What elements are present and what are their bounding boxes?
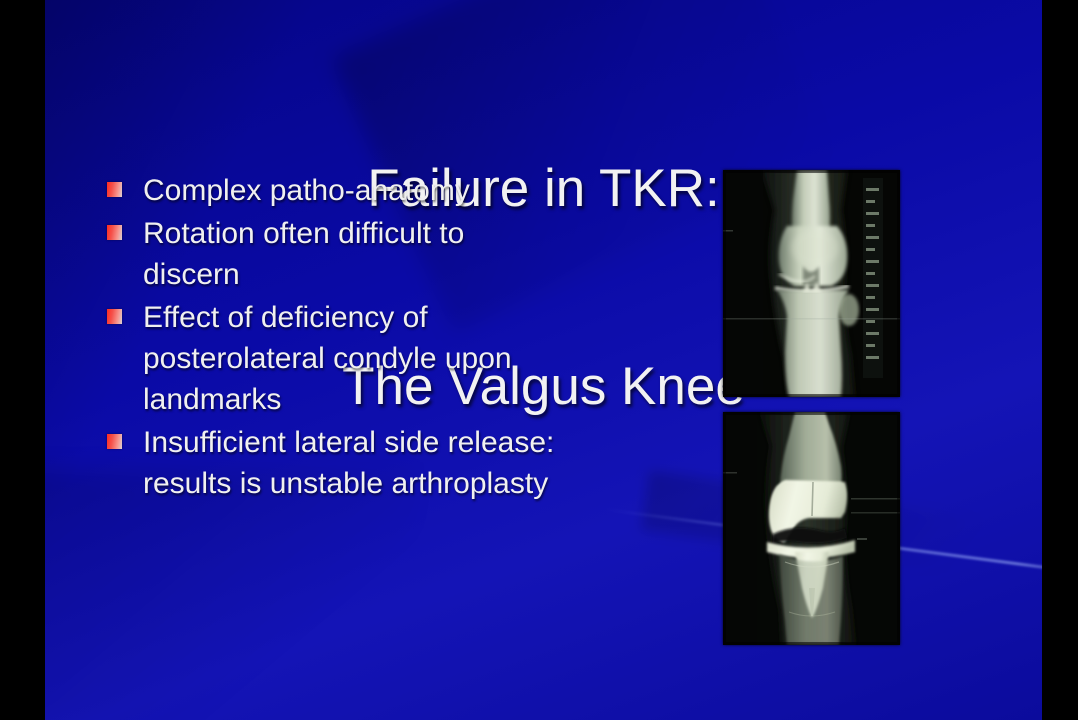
bullet-square-icon [107, 225, 122, 240]
list-item: Insufficient lateral side release: resul… [107, 422, 627, 504]
bullet-text: Rotation often difficult to discern [143, 213, 563, 295]
bullet-text: Complex patho-anatomy [143, 170, 470, 211]
bullet-square-icon [107, 182, 122, 197]
list-item: Rotation often difficult to discern [107, 213, 627, 295]
slide-screenshot: Failure in TKR: The Valgus Knee Complex … [0, 0, 1078, 720]
presentation-slide: Failure in TKR: The Valgus Knee Complex … [45, 0, 1042, 720]
bullet-square-icon [107, 434, 122, 449]
letterbox-left [0, 0, 45, 720]
bullet-text: Effect of deficiency of posterolateral c… [143, 297, 563, 420]
xray-tkr-prosthesis-graphic [723, 412, 900, 645]
xray-native-knee-graphic [723, 170, 900, 397]
bullet-text: Insufficient lateral side release: resul… [143, 422, 563, 504]
bullet-list: Complex patho-anatomy Rotation often dif… [107, 170, 627, 506]
xray-native-knee-ap-image [723, 170, 900, 397]
xray-total-knee-replacement-image [723, 412, 900, 645]
letterbox-right [1042, 0, 1078, 720]
list-item: Complex patho-anatomy [107, 170, 627, 211]
list-item: Effect of deficiency of posterolateral c… [107, 297, 627, 420]
bullet-square-icon [107, 309, 122, 324]
